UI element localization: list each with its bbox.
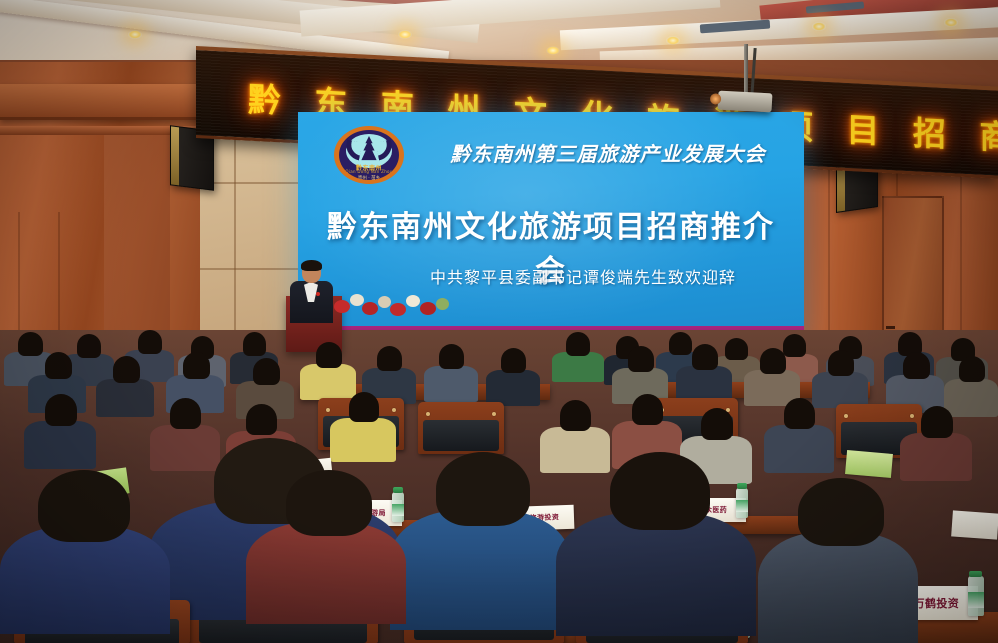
audience-member — [900, 406, 972, 478]
audience-member — [744, 348, 800, 404]
audience-member — [96, 356, 154, 414]
audience-member — [424, 344, 478, 400]
screen-subtitle: 中共黎平县委副书记谭俊端先生致欢迎辞 — [378, 264, 788, 288]
audience-member — [24, 394, 96, 466]
audience-member — [486, 348, 540, 402]
audience-member-front — [0, 470, 170, 630]
projector-mount — [744, 44, 748, 96]
audience-member — [676, 344, 732, 402]
ceiling-spotlight — [944, 18, 958, 27]
audience-member-front — [390, 452, 570, 628]
document-paper — [951, 510, 998, 539]
conference-chair[interactable] — [418, 402, 504, 454]
ceiling-spotlight — [398, 30, 412, 39]
audience-member — [886, 352, 944, 410]
logo-sub-mark: 贵州 · 苗乡 — [339, 175, 399, 180]
audience-member — [764, 398, 834, 470]
speaker-at-podium — [288, 262, 334, 322]
projector-lens — [710, 93, 722, 105]
ceiling-spotlight — [128, 30, 142, 39]
conference-hall-photo: 黔 东 南 州 文 化 旅 游 项 目 招 商 推 介 会 黔东南州 Qian … — [0, 0, 998, 643]
wall-cornice — [0, 84, 212, 120]
ceiling-spotlight — [546, 46, 560, 55]
document-paper — [845, 450, 893, 478]
audience-member-front — [556, 452, 756, 632]
audience-member — [552, 332, 604, 380]
flower-arrangement — [330, 286, 450, 328]
audience-member-front — [758, 478, 918, 643]
audience-member-front — [246, 470, 406, 620]
water-bottle — [968, 576, 984, 616]
audience-member — [300, 342, 356, 398]
ceiling-projector — [718, 91, 773, 113]
screen-event-line: 黔东南州第三届旅游产业发展大会 — [428, 138, 788, 167]
ceiling-spotlight — [666, 36, 680, 45]
conference-logo-icon: 黔东南州 Qian Dong Nan Zhou 贵州 · 苗乡 — [334, 126, 404, 184]
ceiling-spotlight — [812, 22, 826, 31]
logo-pinyin-mark: Qian Dong Nan Zhou — [339, 169, 399, 174]
